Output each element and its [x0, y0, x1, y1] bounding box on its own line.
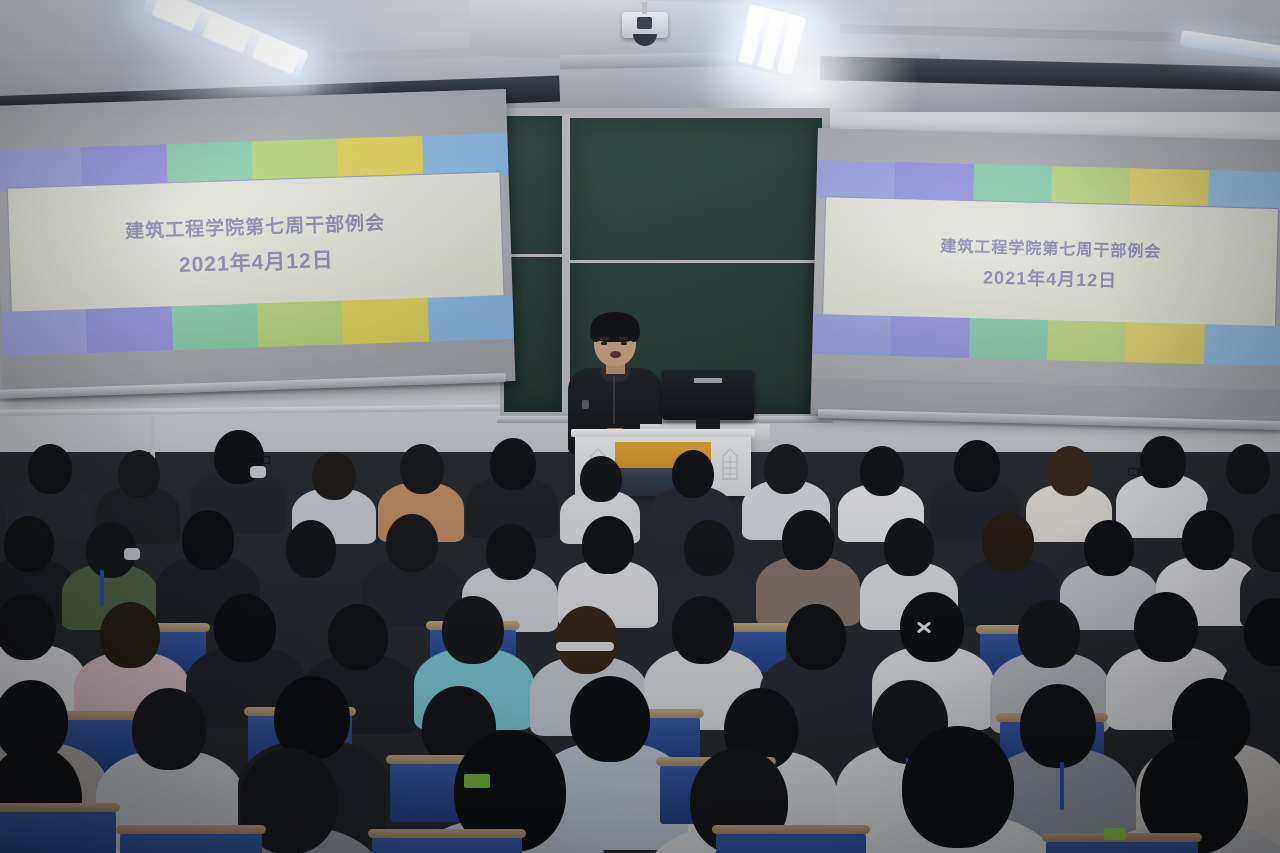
audience-head	[286, 520, 336, 578]
presenter-badge	[582, 400, 589, 409]
face-mask	[250, 466, 266, 478]
slide-text-panel: 建筑工程学院第七周干部例会 2021年4月12日	[822, 196, 1278, 330]
audience-head	[1226, 444, 1270, 494]
presenter-brow-left	[600, 337, 609, 340]
lecture-hall-photo: 建筑工程学院第七周干部例会 2021年4月12日 建筑工程学院第七周干部例会 2	[0, 0, 1280, 853]
audience-head	[486, 524, 536, 580]
band-1	[812, 314, 891, 356]
audience-head	[954, 440, 1000, 492]
audience-head	[764, 444, 808, 494]
band-5	[1125, 322, 1204, 364]
slide-text-panel: 建筑工程学院第七周干部例会 2021年4月12日	[7, 171, 505, 317]
audience-head	[132, 688, 206, 770]
band-2	[86, 306, 173, 353]
green-notebook	[464, 774, 490, 788]
audience-head	[672, 450, 714, 498]
eyeglasses-icon	[248, 456, 270, 462]
presenter-eye-left	[601, 342, 607, 345]
presenter-mouth	[610, 351, 621, 358]
band-3	[171, 303, 258, 350]
audience-head	[556, 606, 618, 674]
audience-head	[684, 520, 734, 576]
audience-head	[1140, 436, 1186, 488]
band-4	[257, 301, 344, 348]
band-6	[427, 295, 514, 342]
audience-head	[400, 444, 444, 494]
audience-head	[786, 604, 846, 670]
projector-mount	[642, 2, 647, 14]
hair-clip-icon	[916, 620, 930, 634]
green-notebook	[1104, 828, 1126, 840]
lecture-seat-foreground	[120, 830, 262, 853]
audience-head	[1182, 510, 1234, 570]
monitor-logo	[694, 378, 722, 383]
presenter-brow-right	[619, 337, 628, 340]
audience-head	[28, 444, 72, 494]
audience-head	[982, 512, 1034, 572]
audience-head	[782, 510, 834, 570]
audience-head	[884, 518, 934, 576]
blackboard-seam-horizontal	[570, 260, 822, 263]
lanyard	[100, 570, 104, 606]
band-3	[973, 164, 1052, 204]
audience-head	[442, 596, 504, 664]
band-3	[969, 318, 1048, 360]
right-projection-screen: 建筑工程学院第七周干部例会 2021年4月12日	[811, 128, 1280, 426]
audience-head	[386, 514, 438, 572]
audience-head	[1084, 520, 1134, 576]
audience-head	[182, 510, 234, 570]
audience-head	[312, 452, 356, 500]
audience-head	[1048, 446, 1092, 496]
hair-tie	[556, 642, 614, 651]
audience-head	[1020, 684, 1096, 768]
band-1	[1, 309, 88, 356]
audience-head	[1134, 592, 1198, 662]
audience-head	[100, 602, 160, 668]
audience-head	[570, 676, 650, 762]
band-4	[1051, 166, 1130, 206]
band-2	[894, 162, 973, 202]
ceiling-projector-icon	[622, 12, 668, 38]
lecture-seat-foreground	[0, 808, 116, 853]
slide-title: 建筑工程学院第七周干部例会	[125, 208, 386, 244]
audience-head	[860, 446, 904, 496]
audience-head	[328, 604, 388, 670]
audience	[0, 430, 1280, 853]
band-5	[342, 298, 429, 345]
band-4	[1047, 320, 1126, 362]
lecture-seat-foreground	[372, 834, 522, 853]
slide-date: 2021年4月12日	[178, 244, 334, 279]
audience-head	[214, 594, 276, 662]
audience-head	[118, 450, 160, 498]
audience-head	[902, 726, 1014, 848]
presenter	[566, 316, 662, 440]
presenter-eye-right	[621, 342, 627, 345]
left-projection-screen: 建筑工程学院第七周干部例会 2021年4月12日	[0, 89, 515, 398]
audience-head	[490, 438, 536, 490]
lanyard	[1060, 762, 1064, 810]
blackboard-seam-left-horizontal	[504, 254, 562, 257]
band-6	[1204, 324, 1280, 366]
audience-head	[900, 592, 964, 662]
lecture-seat-foreground	[716, 830, 866, 853]
presenter-zipper	[613, 376, 615, 424]
projector-lens	[637, 17, 652, 29]
band-6	[1208, 170, 1280, 210]
face-mask	[124, 548, 140, 560]
audience-head	[1018, 600, 1080, 668]
eyeglasses-icon	[1128, 468, 1150, 474]
band-2	[890, 316, 969, 358]
band-5	[1129, 168, 1208, 208]
presenter-hair-side-right	[628, 322, 640, 342]
slide-date: 2021年4月12日	[983, 263, 1118, 293]
audience-head	[582, 516, 634, 574]
audience-head	[4, 516, 54, 572]
desktop-monitor	[662, 370, 754, 420]
audience-head	[672, 596, 734, 664]
audience-head	[580, 456, 622, 502]
band-1	[816, 160, 895, 200]
audience-head	[0, 594, 56, 660]
slide-title: 建筑工程学院第七周干部例会	[940, 232, 1162, 262]
lecture-seat-foreground	[1046, 838, 1198, 853]
